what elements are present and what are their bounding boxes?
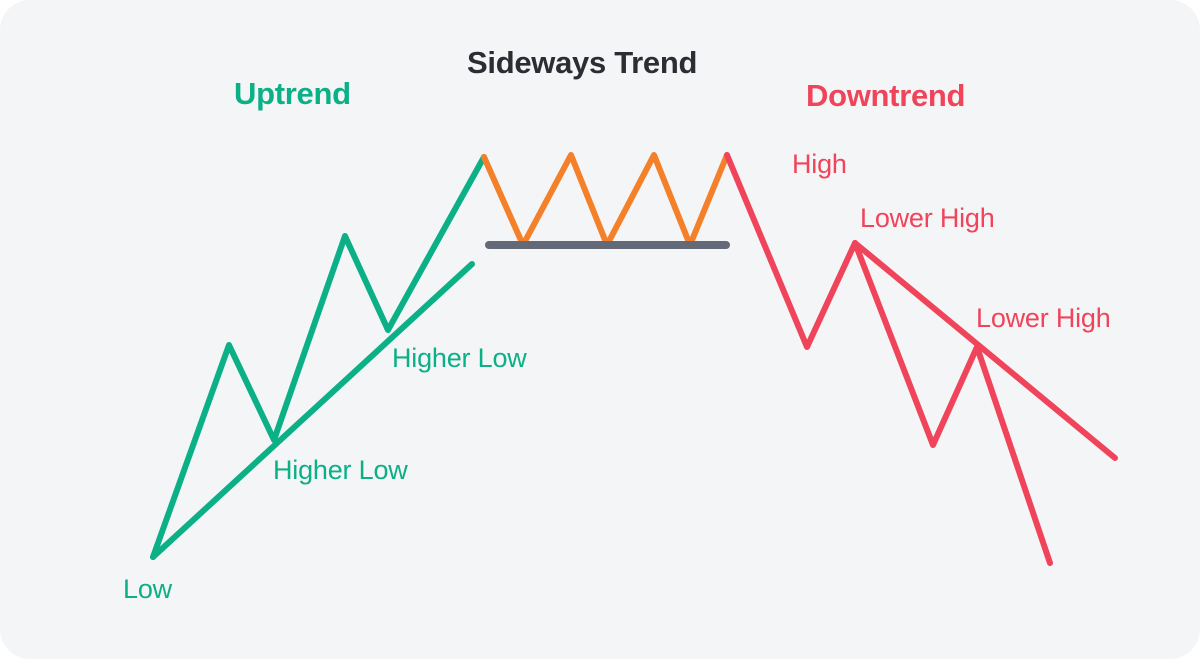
point-label-lower-high-second: Lower High [976, 303, 1111, 334]
point-label-high: High [792, 149, 847, 180]
point-label-lower-high-first: Lower High [860, 203, 995, 234]
point-label-higher-low-second: Higher Low [392, 343, 527, 374]
trend-diagram-card: Uptrend Sideways Trend Downtrend Low Hig… [0, 0, 1200, 659]
section-title-downtrend: Downtrend [806, 78, 965, 114]
point-label-higher-low-first: Higher Low [273, 455, 408, 486]
chart-series-2 [484, 155, 727, 245]
section-title-uptrend: Uptrend [234, 76, 351, 112]
section-title-sideways: Sideways Trend [467, 45, 697, 81]
chart-series-1 [153, 264, 472, 557]
point-label-low: Low [123, 574, 172, 605]
